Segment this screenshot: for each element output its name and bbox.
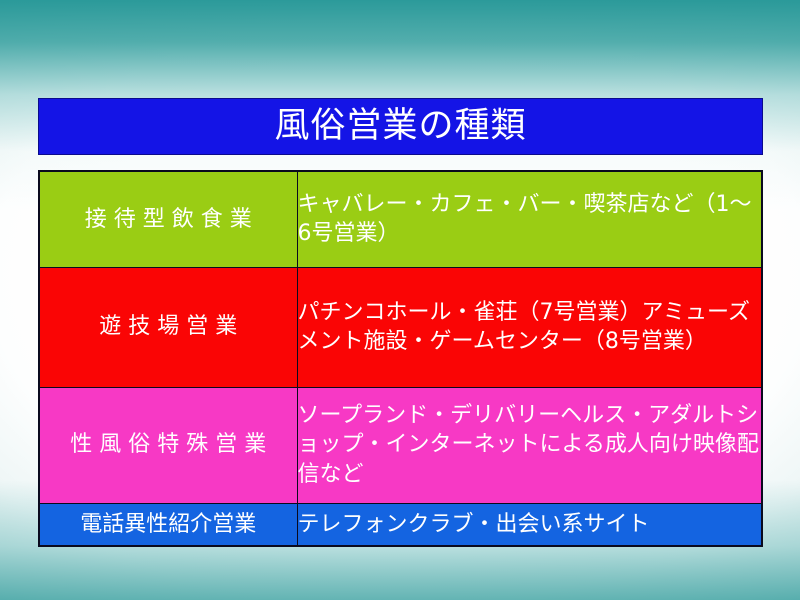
row-label-amusement-venue: 遊技場営業 <box>39 267 297 387</box>
slide-canvas: 風俗営業の種類 接待型飲食業 キャバレー・カフェ・バー・喫茶店など（1～6号営業… <box>0 0 800 600</box>
row-description-entertainment-dining: キャバレー・カフェ・バー・喫茶店など（1～6号営業） <box>297 171 762 267</box>
table-row: 電話異性紹介営業 テレフォンクラブ・出会い系サイト <box>39 503 762 546</box>
row-description-amusement-venue: パチンコホール・雀荘（7号営業）アミューズメント施設・ゲームセンター（8号営業） <box>297 267 762 387</box>
business-types-table: 接待型飲食業 キャバレー・カフェ・バー・喫茶店など（1～6号営業） 遊技場営業 … <box>38 170 763 547</box>
row-description-sex-related-special: ソープランド・デリバリーヘルス・アダルトショップ・インターネットによる成人向け映… <box>297 387 762 503</box>
row-label-entertainment-dining: 接待型飲食業 <box>39 171 297 267</box>
table-row: 遊技場営業 パチンコホール・雀荘（7号営業）アミューズメント施設・ゲームセンター… <box>39 267 762 387</box>
row-label-sex-related-special: 性風俗特殊営業 <box>39 387 297 503</box>
row-label-telephone-introduction: 電話異性紹介営業 <box>39 503 297 546</box>
table-row: 接待型飲食業 キャバレー・カフェ・バー・喫茶店など（1～6号営業） <box>39 171 762 267</box>
page-title: 風俗営業の種類 <box>274 109 526 144</box>
table-row: 性風俗特殊営業 ソープランド・デリバリーヘルス・アダルトショップ・インターネット… <box>39 387 762 503</box>
title-banner: 風俗営業の種類 <box>38 98 763 155</box>
row-description-telephone-introduction: テレフォンクラブ・出会い系サイト <box>297 503 762 546</box>
